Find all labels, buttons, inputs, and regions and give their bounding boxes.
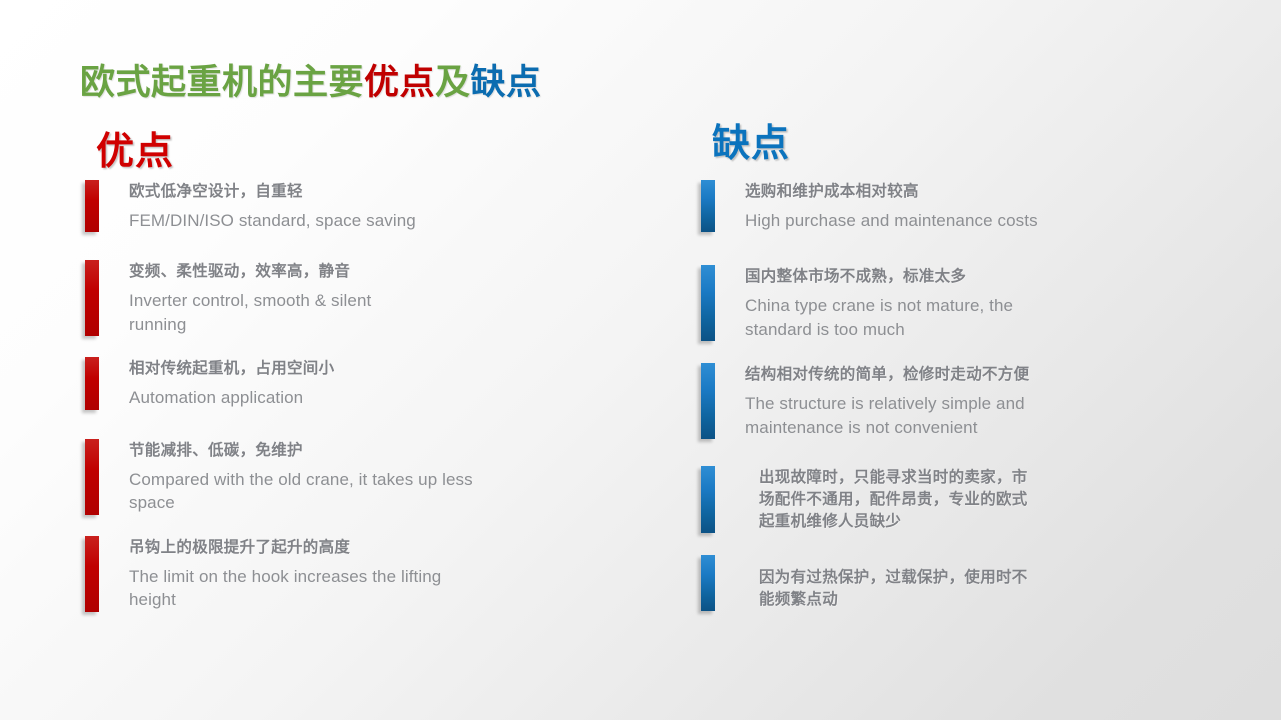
cons-item-text: 因为有过热保护，过载保护，使用时不 能频繁点动: [715, 555, 1028, 611]
bullet-bar-red-icon: [85, 180, 99, 232]
cons-column-heading: 缺点: [712, 112, 790, 167]
pros-item-text: 欧式低净空设计，自重轻 FEM/DIN/ISO standard, space …: [99, 180, 416, 232]
cons-item-text: 结构相对传统的简单，检修时走动不方便 The structure is rela…: [715, 363, 1029, 439]
pros-item-subtitle: FEM/DIN/ISO standard, space saving: [129, 209, 416, 232]
pros-list-item[interactable]: 吊钩上的极限提升了起升的高度 The limit on the hook inc…: [78, 536, 638, 612]
cons-list-item[interactable]: 国内整体市场不成熟，标准太多 China type crane is not m…: [694, 265, 1254, 341]
cons-item-heading: 出现故障时，只能寻求当时的卖家，市 场配件不通用，配件昂贵，专业的欧式 起重机维…: [759, 467, 1028, 533]
pros-item-heading: 吊钩上的极限提升了起升的高度: [129, 537, 441, 559]
pros-item-text: 吊钩上的极限提升了起升的高度 The limit on the hook inc…: [99, 536, 441, 612]
bullet-bar-blue-icon: [701, 363, 715, 439]
page-title: 欧式起重机的主要优点及缺点: [80, 54, 542, 105]
bullet-bar-red-icon: [85, 357, 99, 409]
pros-item-heading: 相对传统起重机，占用空间小: [129, 358, 334, 380]
cons-item-subtitle: China type crane is not mature, the stan…: [745, 294, 1013, 341]
pros-item-text: 变频、柔性驱动，效率高，静音 Inverter control, smooth …: [99, 260, 371, 336]
slide-root: 欧式起重机的主要优点及缺点 优点 缺点 欧式低净空设计，自重轻 FEM/DIN/…: [0, 0, 1281, 720]
pros-column-heading: 优点: [96, 120, 174, 175]
page-title-part-3: 及: [435, 63, 471, 102]
bullet-bar-blue-icon: [701, 466, 715, 533]
cons-item-heading: 结构相对传统的简单，检修时走动不方便: [745, 364, 1029, 386]
pros-item-subtitle: Compared with the old crane, it takes up…: [129, 468, 473, 515]
cons-item-heading: 因为有过热保护，过载保护，使用时不 能频繁点动: [759, 567, 1028, 611]
cons-item-subtitle: The structure is relatively simple and m…: [745, 392, 1029, 439]
cons-item-heading: 选购和维护成本相对较高: [745, 181, 1038, 203]
pros-item-subtitle: Automation application: [129, 386, 334, 409]
cons-item-heading: 国内整体市场不成熟，标准太多: [745, 266, 1013, 288]
bullet-bar-red-icon: [85, 439, 99, 515]
bullet-bar-blue-icon: [701, 555, 715, 611]
pros-list-item[interactable]: 变频、柔性驱动，效率高，静音 Inverter control, smooth …: [78, 260, 638, 336]
cons-list-item[interactable]: 选购和维护成本相对较高 High purchase and maintenanc…: [694, 180, 1254, 232]
pros-item-heading: 欧式低净空设计，自重轻: [129, 181, 416, 203]
cons-column: 选购和维护成本相对较高 High purchase and maintenanc…: [694, 180, 1254, 611]
pros-list-item[interactable]: 相对传统起重机，占用空间小 Automation application: [78, 357, 638, 409]
page-title-part-2: 优点: [364, 63, 435, 102]
pros-list-item[interactable]: 欧式低净空设计，自重轻 FEM/DIN/ISO standard, space …: [78, 180, 638, 232]
cons-item-text: 出现故障时，只能寻求当时的卖家，市 场配件不通用，配件昂贵，专业的欧式 起重机维…: [715, 466, 1028, 533]
cons-item-subtitle: High purchase and maintenance costs: [745, 209, 1038, 232]
cons-item-text: 国内整体市场不成熟，标准太多 China type crane is not m…: [715, 265, 1013, 341]
page-title-part-4: 缺点: [471, 63, 542, 102]
pros-item-subtitle: Inverter control, smooth & silent runnin…: [129, 289, 371, 336]
pros-list-item[interactable]: 节能减排、低碳，免维护 Compared with the old crane,…: [78, 439, 638, 515]
pros-item-heading: 节能减排、低碳，免维护: [129, 440, 473, 462]
bullet-bar-red-icon: [85, 536, 99, 612]
bullet-bar-blue-icon: [701, 180, 715, 232]
cons-list-item[interactable]: 因为有过热保护，过载保护，使用时不 能频繁点动: [694, 555, 1254, 611]
cons-list-item[interactable]: 出现故障时，只能寻求当时的卖家，市 场配件不通用，配件昂贵，专业的欧式 起重机维…: [694, 466, 1254, 533]
cons-item-text: 选购和维护成本相对较高 High purchase and maintenanc…: [715, 180, 1038, 232]
pros-item-text: 相对传统起重机，占用空间小 Automation application: [99, 357, 334, 409]
page-title-part-1: 欧式起重机的主要: [80, 63, 364, 102]
bullet-bar-blue-icon: [701, 265, 715, 341]
pros-item-text: 节能减排、低碳，免维护 Compared with the old crane,…: [99, 439, 473, 515]
bullet-bar-red-icon: [85, 260, 99, 336]
pros-item-heading: 变频、柔性驱动，效率高，静音: [129, 261, 371, 283]
pros-column: 欧式低净空设计，自重轻 FEM/DIN/ISO standard, space …: [78, 180, 638, 612]
pros-item-subtitle: The limit on the hook increases the lift…: [129, 565, 441, 612]
cons-list-item[interactable]: 结构相对传统的简单，检修时走动不方便 The structure is rela…: [694, 363, 1254, 439]
